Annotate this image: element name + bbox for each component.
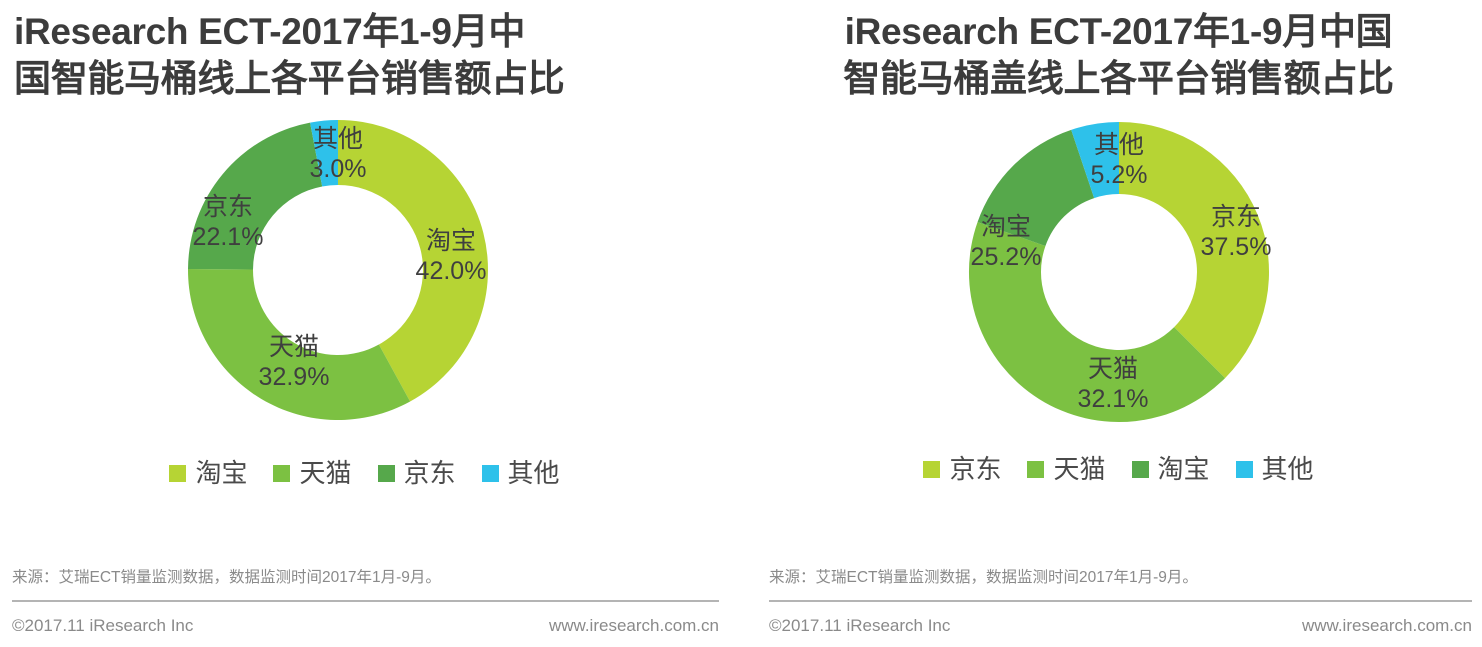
legend-swatch-icon — [482, 465, 499, 482]
page-title-right: iResearch ECT-2017年1-9月中国 智能马桶盖线上各平台销售额占… — [769, 0, 1468, 102]
legend-label-left-0: 淘宝 — [195, 460, 247, 486]
chart-area-right: 其他 5.2% 淘宝 25.2% 天猫 32.1% 京东 37.5% — [769, 108, 1468, 448]
legend-label-right-0: 京东 — [949, 456, 1001, 482]
legend-left: 淘宝 天猫 京东 其他 — [10, 460, 719, 486]
legend-label-left-2: 京东 — [404, 460, 456, 486]
copyright-text-right: ©2017.11 iResearch Inc — [769, 615, 950, 637]
copyright-text-left: ©2017.11 iResearch Inc — [12, 615, 193, 637]
slice-left-tmall — [188, 269, 410, 420]
footer-right: 来源：艾瑞ECT销量监测数据，数据监测时间2017年1月-9月。 ©2017.1… — [741, 568, 1482, 647]
legend-item-right-3[interactable]: 其他 — [1236, 456, 1314, 482]
donut-svg-left — [178, 110, 498, 430]
website-link-right[interactable]: www.iresearch.com.cn — [1302, 615, 1472, 637]
legend-swatch-icon — [378, 465, 395, 482]
legend-swatch-icon — [273, 465, 290, 482]
copyright-line-right: ©2017.11 iResearch Inc www.iresearch.com… — [769, 602, 1472, 647]
panel-smart-toilet: iResearch ECT-2017年1-9月中 国智能马桶线上各平台销售额占比 — [0, 0, 741, 647]
report-page: iResearch ECT-2017年1-9月中 国智能马桶线上各平台销售额占比 — [0, 0, 1482, 647]
legend-item-right-1[interactable]: 天猫 — [1027, 456, 1105, 482]
legend-label-right-1: 天猫 — [1053, 456, 1105, 482]
page-title-left: iResearch ECT-2017年1-9月中 国智能马桶线上各平台销售额占比 — [10, 0, 719, 102]
panel-smart-toilet-seat: iResearch ECT-2017年1-9月中国 智能马桶盖线上各平台销售额占… — [741, 0, 1482, 647]
legend-item-right-2[interactable]: 淘宝 — [1132, 456, 1210, 482]
legend-item-left-2[interactable]: 京东 — [378, 460, 456, 486]
legend-right: 京东 天猫 淘宝 其他 — [769, 456, 1468, 482]
legend-item-left-3[interactable]: 其他 — [482, 460, 560, 486]
legend-item-left-1[interactable]: 天猫 — [273, 460, 351, 486]
donut-svg-right — [959, 112, 1279, 432]
chart-area-left: 其他 3.0% 京东 22.1% 天猫 32.9% 淘宝 42.0% — [10, 108, 719, 448]
legend-swatch-icon — [923, 461, 940, 478]
legend-swatch-icon — [1132, 461, 1149, 478]
legend-label-right-3: 其他 — [1262, 456, 1314, 482]
legend-swatch-icon — [1027, 461, 1044, 478]
source-note-right: 来源：艾瑞ECT销量监测数据，数据监测时间2017年1月-9月。 — [769, 568, 1472, 600]
legend-swatch-icon — [169, 465, 186, 482]
legend-item-left-0[interactable]: 淘宝 — [169, 460, 247, 486]
legend-label-left-3: 其他 — [508, 460, 560, 486]
slice-right-jd — [1119, 122, 1269, 378]
copyright-line-left: ©2017.11 iResearch Inc www.iresearch.com… — [12, 602, 719, 647]
legend-label-right-2: 淘宝 — [1158, 456, 1210, 482]
slice-left-jd — [188, 123, 322, 270]
donut-chart-right: 其他 5.2% 淘宝 25.2% 天猫 32.1% 京东 37.5% — [959, 112, 1279, 432]
source-note-left: 来源：艾瑞ECT销量监测数据，数据监测时间2017年1月-9月。 — [12, 568, 719, 600]
legend-label-left-1: 天猫 — [299, 460, 351, 486]
legend-item-right-0[interactable]: 京东 — [923, 456, 1001, 482]
website-link-left[interactable]: www.iresearch.com.cn — [549, 615, 719, 637]
donut-chart-left: 其他 3.0% 京东 22.1% 天猫 32.9% 淘宝 42.0% — [178, 110, 498, 430]
legend-swatch-icon — [1236, 461, 1253, 478]
footer-left: 来源：艾瑞ECT销量监测数据，数据监测时间2017年1月-9月。 ©2017.1… — [0, 568, 741, 647]
